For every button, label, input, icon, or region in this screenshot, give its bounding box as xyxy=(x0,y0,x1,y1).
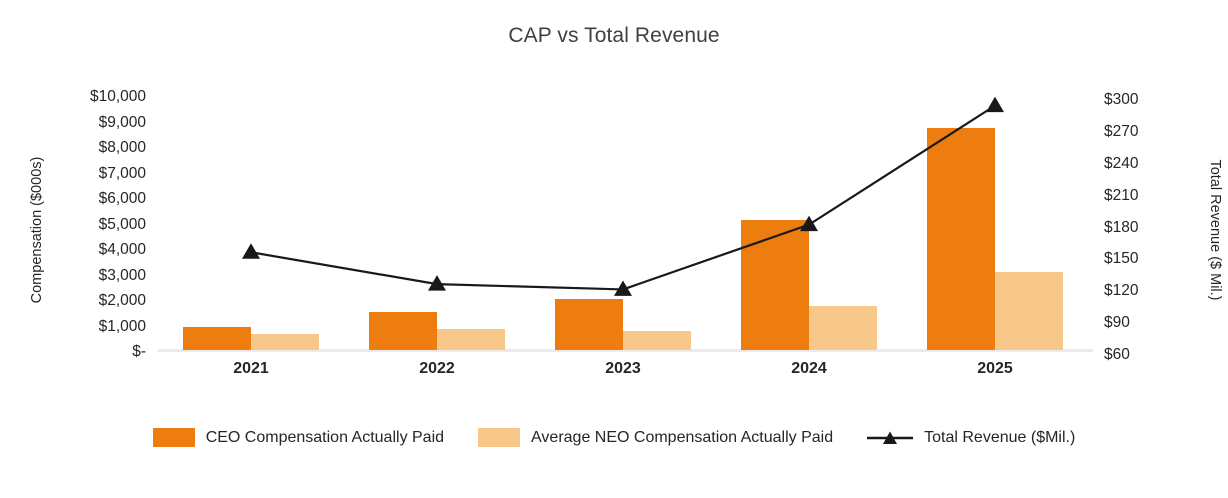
legend-line-triangle-icon xyxy=(867,429,913,447)
chart-legend: CEO Compensation Actually Paid Average N… xyxy=(0,428,1228,447)
y-axis-left-tick: $5,000 xyxy=(99,217,146,233)
y-axis-right-title: Total Revenue ($ Mil.) xyxy=(1207,115,1223,345)
bar-ceo-compensation[interactable] xyxy=(555,299,623,350)
x-axis-label: 2021 xyxy=(201,360,301,378)
y-axis-left-tick: $2,000 xyxy=(99,293,146,309)
bar-neo-compensation[interactable] xyxy=(809,306,877,350)
legend-item-ceo[interactable]: CEO Compensation Actually Paid xyxy=(153,428,444,447)
y-axis-left-tick: $4,000 xyxy=(99,242,146,258)
chart-title: CAP vs Total Revenue xyxy=(0,24,1228,48)
y-axis-right-tick: $210 xyxy=(1104,188,1138,204)
x-axis-label: 2022 xyxy=(387,360,487,378)
bar-neo-compensation[interactable] xyxy=(251,334,319,350)
y-axis-right-tick: $300 xyxy=(1104,92,1138,108)
legend-label-ceo: CEO Compensation Actually Paid xyxy=(206,429,444,447)
y-axis-left-tick: $8,000 xyxy=(99,140,146,156)
legend-item-neo[interactable]: Average NEO Compensation Actually Paid xyxy=(478,428,833,447)
x-axis-label: 2024 xyxy=(759,360,859,378)
bar-ceo-compensation[interactable] xyxy=(183,327,251,350)
y-axis-right-tick: $180 xyxy=(1104,220,1138,236)
bar-neo-compensation[interactable] xyxy=(623,331,691,350)
y-axis-right-tick: $270 xyxy=(1104,124,1138,140)
y-axis-left-tick: $6,000 xyxy=(99,191,146,207)
bar-ceo-compensation[interactable] xyxy=(369,312,437,350)
y-axis-left-tick: $10,000 xyxy=(90,89,146,105)
y-axis-right-tick: $90 xyxy=(1104,315,1130,331)
bar-ceo-compensation[interactable] xyxy=(927,128,995,350)
legend-label-neo: Average NEO Compensation Actually Paid xyxy=(531,429,833,447)
bar-ceo-compensation[interactable] xyxy=(741,220,809,350)
x-axis-label: 2025 xyxy=(945,360,1045,378)
y-axis-right-tick: $120 xyxy=(1104,283,1138,299)
y-axis-left-tick: $9,000 xyxy=(99,115,146,131)
y-axis-left-tick: $3,000 xyxy=(99,268,146,284)
y-axis-left-tick: $7,000 xyxy=(99,166,146,182)
y-axis-left-tick: $1,000 xyxy=(99,319,146,335)
plot-area xyxy=(158,95,1088,350)
y-axis-right-tick: $240 xyxy=(1104,156,1138,172)
y-axis-left-title: Compensation ($000s) xyxy=(29,115,45,345)
bar-neo-compensation[interactable] xyxy=(995,272,1063,350)
x-axis-label: 2023 xyxy=(573,360,673,378)
chart-container: CAP vs Total Revenue Compensation ($000s… xyxy=(0,0,1228,498)
legend-swatch-neo-icon xyxy=(478,428,520,447)
legend-item-revenue[interactable]: Total Revenue ($Mil.) xyxy=(867,429,1075,447)
y-axis-right-tick: $60 xyxy=(1104,347,1130,363)
y-axis-left-tick: $- xyxy=(132,344,146,360)
y-axis-right-tick: $150 xyxy=(1104,251,1138,267)
legend-swatch-ceo-icon xyxy=(153,428,195,447)
bar-neo-compensation[interactable] xyxy=(437,329,505,350)
legend-label-revenue: Total Revenue ($Mil.) xyxy=(924,429,1075,447)
x-axis-labels: 20212022202320242025 xyxy=(158,360,1088,386)
